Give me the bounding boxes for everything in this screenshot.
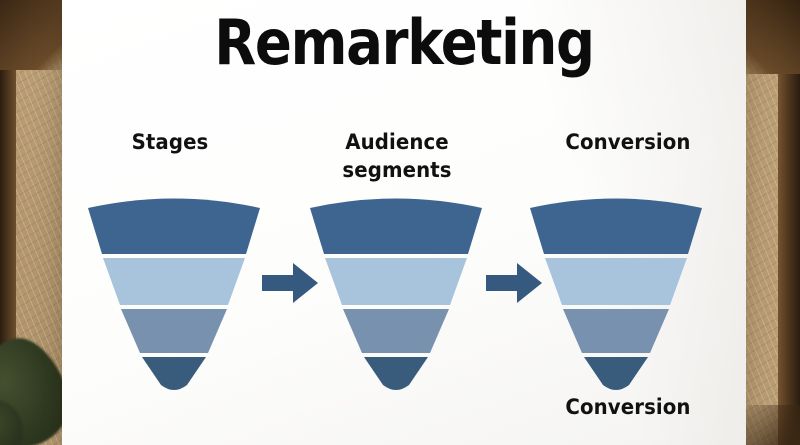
footer-label-conversion: Conversion [534, 393, 722, 421]
funnel-band-4[interactable] [142, 357, 206, 390]
column-label-conversion: Conversion [534, 128, 722, 156]
funnel-band-1[interactable] [530, 199, 702, 255]
funnel-band-3[interactable] [563, 309, 669, 353]
slide-photo: Remarketing Stages Audience segments Con… [0, 0, 800, 445]
funnel-chart-conversion[interactable] [530, 198, 702, 396]
funnel-band-2[interactable] [545, 258, 687, 305]
funnel-chart-stages[interactable] [88, 198, 260, 396]
funnel-band-4[interactable] [584, 357, 648, 390]
funnel-band-4[interactable] [364, 357, 428, 390]
funnel-band-1[interactable] [88, 199, 260, 255]
funnel-band-2[interactable] [325, 258, 467, 305]
funnel-band-3[interactable] [121, 309, 227, 353]
column-label-audience-line2: segments [317, 156, 477, 184]
funnel-band-3[interactable] [343, 309, 449, 353]
page-title: Remarketing [103, 6, 705, 79]
column-label-audience: Audience segments [317, 128, 477, 185]
funnel-band-2[interactable] [103, 258, 245, 305]
column-label-stages: Stages [95, 128, 245, 156]
funnel-band-1[interactable] [310, 199, 482, 255]
funnel-chart-audience[interactable] [310, 198, 482, 396]
column-label-audience-line1: Audience [317, 128, 477, 156]
